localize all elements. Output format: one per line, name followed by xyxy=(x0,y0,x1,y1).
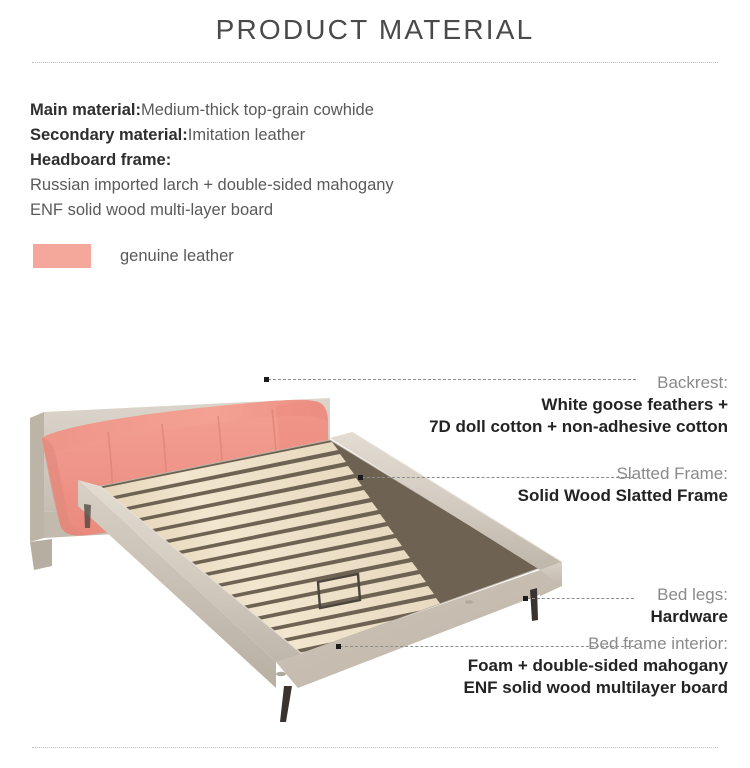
leader-dot-slatted xyxy=(358,475,363,480)
leader-line-bed-legs xyxy=(527,598,634,599)
callout-slatted-frame: Slatted Frame: Solid Wood Slatted Frame xyxy=(518,463,728,507)
spec-line-headboard-detail-1: Russian imported larch + double-sided ma… xyxy=(30,173,500,198)
spec-value: Russian imported larch + double-sided ma… xyxy=(30,176,394,194)
callout-backrest: Backrest: White goose feathers + 7D doll… xyxy=(429,372,728,437)
divider-bottom xyxy=(32,747,718,748)
callout-value-line: 7D doll cotton + non-adhesive cotton xyxy=(429,416,728,438)
leader-dot-interior xyxy=(336,644,341,649)
headboard-post xyxy=(30,539,52,570)
spec-line-secondary: Secondary material:Imitation leather xyxy=(30,123,500,148)
callout-value-line: ENF solid wood multilayer board xyxy=(464,677,728,699)
material-spec-list: Main material:Medium-thick top-grain cow… xyxy=(30,98,500,223)
spec-key: Headboard frame: xyxy=(30,151,171,169)
divider-top xyxy=(32,62,718,63)
spec-line-headboard-frame: Headboard frame: xyxy=(30,148,500,173)
legend: genuine leather xyxy=(33,244,234,268)
callout-bed-legs: Bed legs: Hardware xyxy=(651,584,728,628)
callout-value-line: White goose feathers + xyxy=(429,394,728,416)
legend-label: genuine leather xyxy=(120,247,234,266)
spec-key: Main material: xyxy=(30,101,141,119)
bed-leg-left xyxy=(84,504,91,528)
spec-line-main: Main material:Medium-thick top-grain cow… xyxy=(30,98,500,123)
spec-value: ENF solid wood multi-layer board xyxy=(30,201,273,219)
legend-swatch-genuine-leather xyxy=(33,244,91,268)
bed-leg-right xyxy=(530,588,538,621)
spec-line-headboard-detail-2: ENF solid wood multi-layer board xyxy=(30,198,500,223)
callout-value-line: Solid Wood Slatted Frame xyxy=(518,485,728,507)
callout-value-line: Hardware xyxy=(651,606,728,628)
callout-value-line: Foam + double-sided mahogany xyxy=(464,655,728,677)
leader-line-slatted xyxy=(362,477,634,478)
page-title: PRODUCT MATERIAL xyxy=(0,14,750,46)
callout-key: Backrest: xyxy=(429,372,728,394)
leader-dot-bed-legs xyxy=(523,596,528,601)
callout-key: Slatted Frame: xyxy=(518,463,728,485)
spec-key: Secondary material: xyxy=(30,126,188,144)
leader-dot-backrest xyxy=(264,377,269,382)
bed-leg-front xyxy=(280,686,292,722)
callout-bed-frame-interior: Bed frame interior: Foam + double-sided … xyxy=(464,633,728,698)
callout-key: Bed frame interior: xyxy=(464,633,728,655)
callout-key: Bed legs: xyxy=(651,584,728,606)
leader-line-backrest xyxy=(268,379,636,380)
spec-value: Imitation leather xyxy=(188,126,305,144)
leader-line-interior xyxy=(340,646,634,647)
spec-value: Medium-thick top-grain cowhide xyxy=(141,101,374,119)
